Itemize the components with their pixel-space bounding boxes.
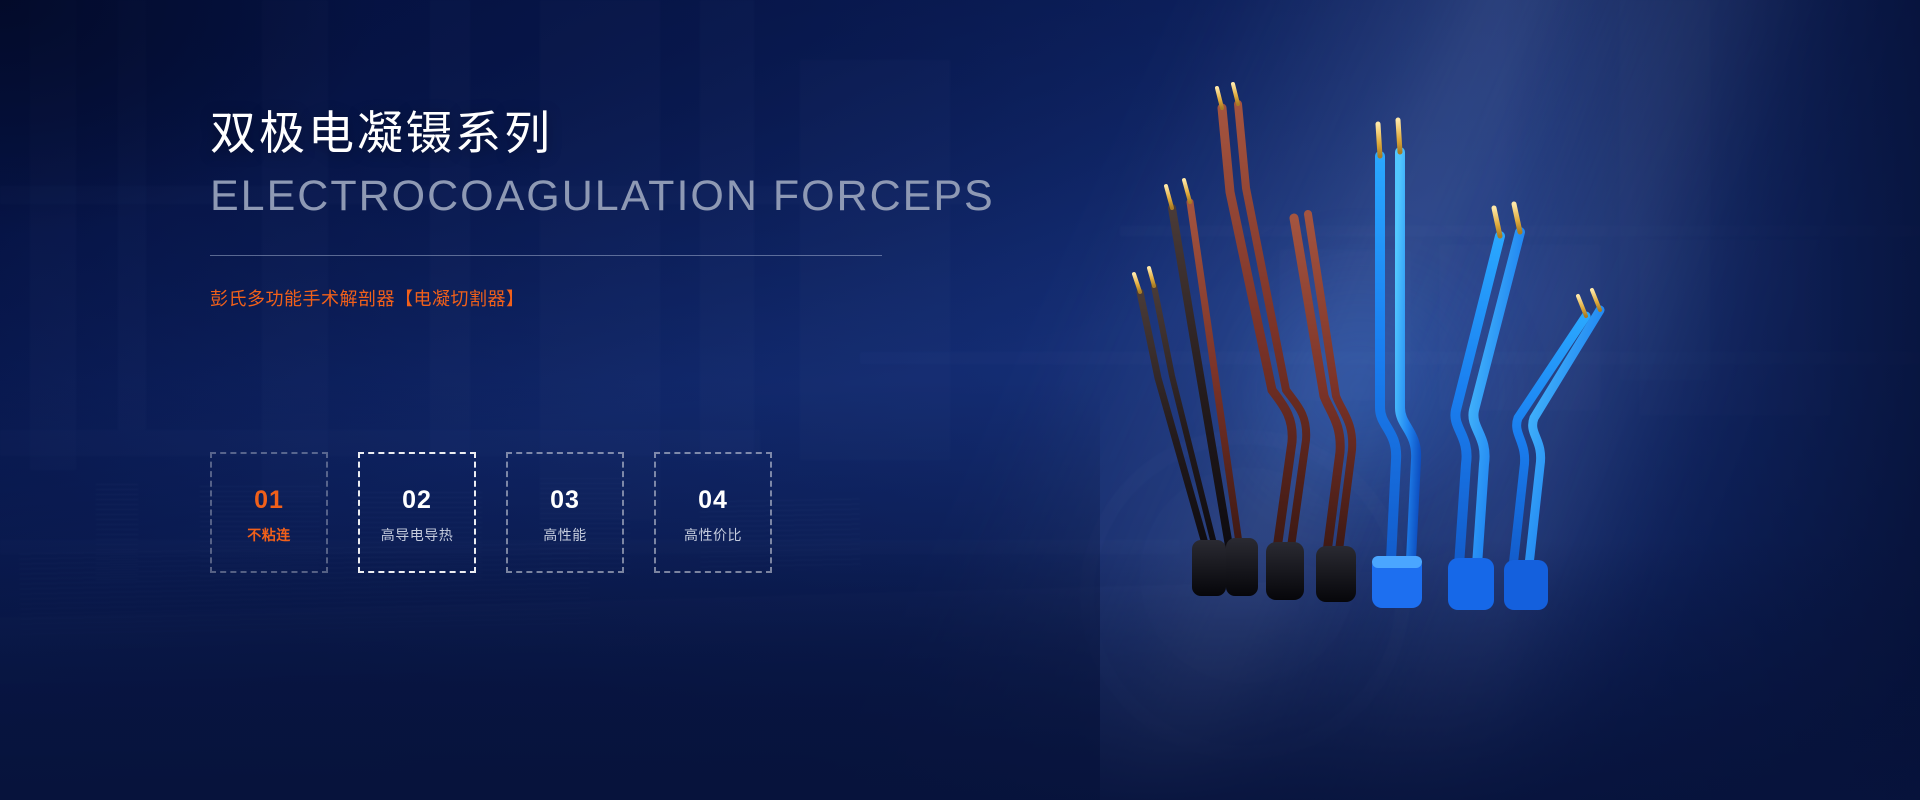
feature-label: 高性价比 xyxy=(684,528,742,542)
feature-label: 不粘连 xyxy=(247,528,291,542)
page-subtitle: 彭氏多功能手术解剖器【电凝切割器】 xyxy=(210,285,970,311)
banner-text-block: 双极电凝镊系列 ELECTROCOAGULATION FORCEPS 彭氏多功能… xyxy=(210,105,970,311)
feature-label: 高性能 xyxy=(543,528,587,542)
page-title: 双极电凝镊系列 xyxy=(210,105,970,163)
vignette-bottom xyxy=(0,540,1920,800)
feature-number: 02 xyxy=(402,488,432,513)
feature-card-03[interactable]: 03 高性能 xyxy=(506,452,624,573)
feature-label: 高导电导热 xyxy=(381,528,454,542)
feature-list: 01 不粘连 02 高导电导热 03 高性能 04 高性价比 xyxy=(210,452,772,573)
feature-number: 03 xyxy=(550,488,580,513)
feature-number: 01 xyxy=(254,488,284,513)
product-image-forceps xyxy=(1080,60,1600,620)
page-title-english: ELECTROCOAGULATION FORCEPS xyxy=(210,171,970,222)
feature-card-02[interactable]: 02 高导电导热 xyxy=(358,452,476,573)
feature-number: 04 xyxy=(698,488,728,513)
product-hero-banner: 双极电凝镊系列 ELECTROCOAGULATION FORCEPS 彭氏多功能… xyxy=(0,0,1920,800)
feature-card-01[interactable]: 01 不粘连 xyxy=(210,452,328,573)
feature-card-04[interactable]: 04 高性价比 xyxy=(654,452,772,573)
divider xyxy=(210,255,882,256)
